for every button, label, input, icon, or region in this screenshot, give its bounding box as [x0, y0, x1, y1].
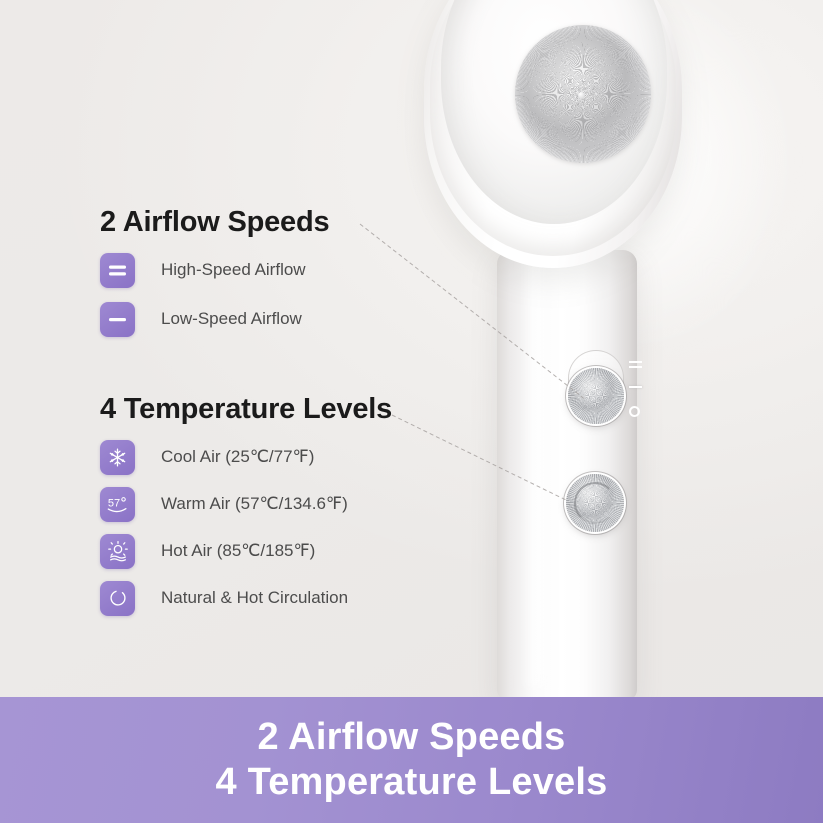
section-title-airflow: 2 Airflow Speeds	[100, 206, 329, 239]
speed-indicator-marks	[629, 361, 647, 417]
feature-natural-hot-circulation: Natural & Hot Circulation	[100, 581, 392, 615]
circulation-arrows-icon	[574, 482, 616, 524]
feature-warm-air: 57 Warm Air (57℃/134.6℉)	[100, 487, 392, 521]
feature-label: Warm Air (57℃/134.6℉)	[161, 494, 348, 514]
feature-high-speed-airflow: High-Speed Airflow	[100, 253, 329, 287]
circulation-icon	[100, 581, 135, 616]
snowflake-icon	[100, 440, 135, 475]
bottom-banner: 2 Airflow Speeds 4 Temperature Levels	[0, 697, 823, 823]
feature-label: Natural & Hot Circulation	[161, 588, 348, 608]
dryer-handle	[497, 250, 637, 700]
svg-text:57: 57	[107, 497, 119, 509]
feature-list-airflow: High-Speed Airflow Low-Speed Airflow	[100, 253, 329, 336]
feature-cool-air: Cool Air (25℃/77℉)	[100, 440, 392, 474]
banner-line-1: 2 Airflow Speeds	[258, 715, 566, 760]
sun-wave-icon	[100, 534, 135, 569]
feature-list-temperature: Cool Air (25℃/77℉) 57 Warm Air (57℃/134.…	[100, 440, 392, 615]
product-feature-infographic: 2 Airflow Speeds High-Speed Airflow	[0, 0, 823, 823]
section-temperature: 4 Temperature Levels	[100, 393, 392, 628]
degree-57-icon: 57	[100, 487, 135, 522]
feature-low-speed-airflow: Low-Speed Airflow	[100, 302, 329, 336]
filter-mesh-hub	[578, 92, 585, 99]
double-bar-indicator-icon	[629, 361, 642, 368]
feature-label: Low-Speed Airflow	[161, 309, 302, 329]
circle-indicator-icon	[629, 406, 640, 417]
section-airflow: 2 Airflow Speeds High-Speed Airflow	[100, 206, 329, 351]
section-title-temperature: 4 Temperature Levels	[100, 393, 392, 426]
single-bar-indicator-icon	[629, 386, 642, 388]
speed-slider-knob[interactable]	[568, 368, 624, 424]
double-bar-icon	[100, 253, 135, 288]
single-bar-icon	[100, 302, 135, 337]
handle-highlight	[523, 258, 549, 688]
feature-hot-air: Hot Air (85℃/185℉)	[100, 534, 392, 568]
banner-line-2: 4 Temperature Levels	[216, 760, 608, 805]
feature-label: Hot Air (85℃/185℉)	[161, 541, 315, 561]
feature-label: High-Speed Airflow	[161, 260, 306, 280]
feature-label: Cool Air (25℃/77℉)	[161, 447, 314, 467]
